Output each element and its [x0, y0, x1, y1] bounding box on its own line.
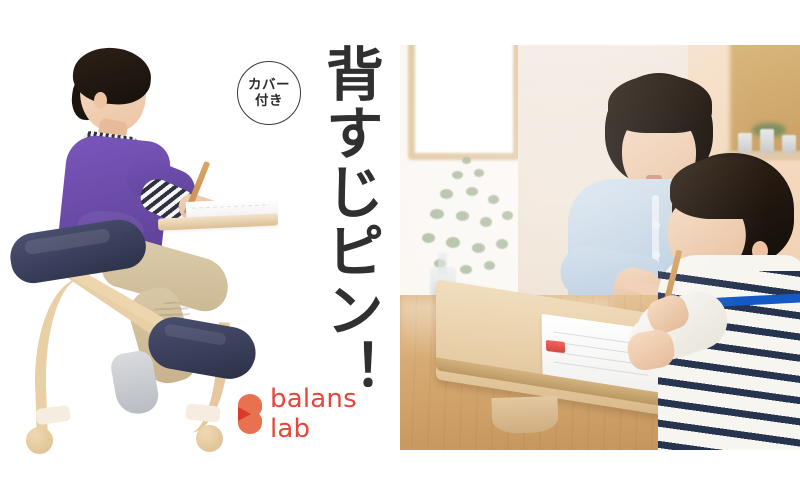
badge-line-2: 付き [255, 93, 283, 109]
shelf-jar [738, 133, 752, 153]
product-banner: カバー 付き 背すじピン！ balans lab [0, 0, 800, 495]
chair-foot-pad-right [185, 403, 220, 422]
cover-included-badge: カバー 付き [237, 61, 301, 125]
chair-ball-foot-right [196, 425, 223, 452]
knee-highlight [164, 323, 227, 346]
mother-bangs [608, 75, 712, 133]
shelf-jar [782, 135, 796, 153]
window-frame [408, 45, 520, 160]
brand-wordmark: balans lab [270, 384, 400, 444]
mother-shirt-button [652, 221, 660, 229]
balans-lab-logo-mark-icon [238, 394, 262, 434]
seat-highlight [24, 228, 111, 255]
left-product-panel: カバー 付き 背すじピン！ balans lab [0, 0, 400, 495]
lifestyle-photo: balans lab [400, 45, 800, 450]
red-eraser [546, 340, 566, 353]
balans-lab-logo-left: balans lab [238, 384, 400, 444]
shelf-jar [760, 129, 774, 153]
ear [94, 92, 107, 109]
page-title: 背すじピン！ [317, 44, 379, 398]
board-curved-foot [491, 396, 558, 434]
badge-line-1: カバー [248, 77, 290, 93]
chair-ball-foot-left [26, 427, 53, 454]
photo-boy-bangs [670, 157, 786, 219]
